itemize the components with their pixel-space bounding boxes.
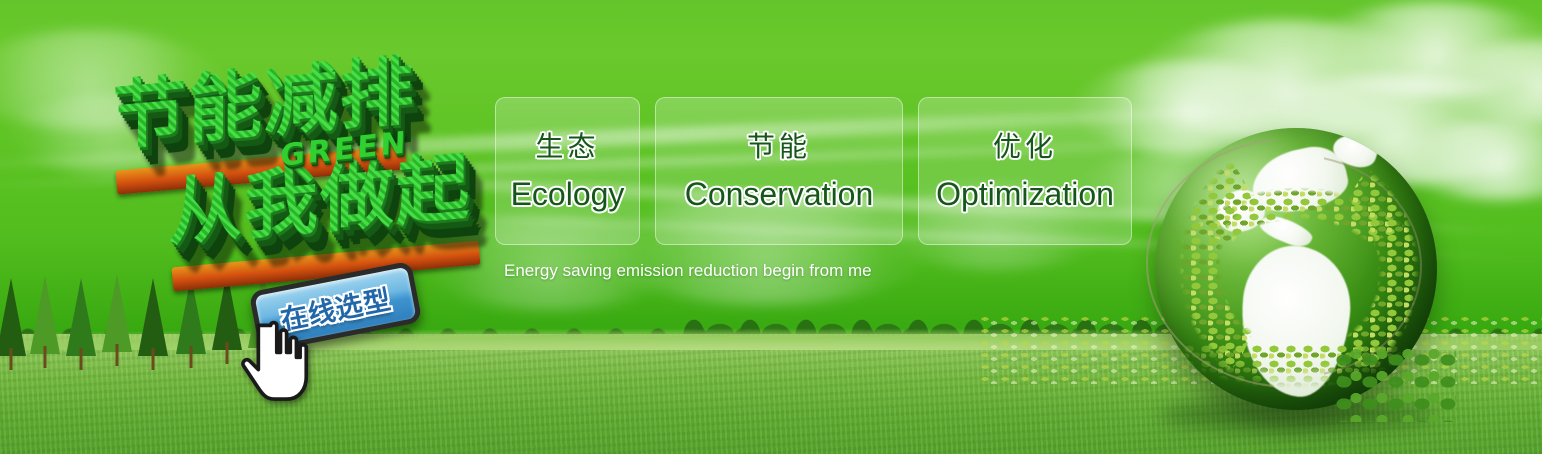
headline-artwork: 节能减排 从我做起 GREEN — [100, 36, 500, 271]
leafy-earth-globe-icon — [1140, 118, 1450, 428]
globe-dark-patch — [1155, 128, 1189, 144]
feature-card-ecology[interactable]: 生态 Ecology — [495, 97, 640, 245]
conifer-tree-icon — [30, 276, 60, 368]
conifer-tree-icon — [138, 262, 168, 370]
feature-card-cn-label: 生态 — [535, 125, 599, 165]
feature-card-optimization[interactable]: 优化 Optimization — [918, 97, 1132, 245]
eco-promo-banner: 节能减排 从我做起 GREEN 在线选型 生态 Ecology 节能 Conse… — [0, 0, 1542, 454]
feature-card-en-label: Ecology — [511, 176, 625, 213]
conifer-tree-icon — [102, 278, 132, 366]
conifer-tree-icon — [0, 270, 26, 370]
feature-card-en-label: Optimization — [936, 176, 1114, 213]
conifer-tree-icon — [66, 266, 96, 370]
bush-icon — [1336, 348, 1456, 422]
feature-card-cn-label: 优化 — [993, 125, 1057, 165]
feature-card-cn-label: 节能 — [747, 125, 811, 165]
tagline-text: Energy saving emission reduction begin f… — [504, 261, 872, 281]
feature-card-en-label: Conservation — [685, 176, 874, 213]
pointer-hand-icon — [238, 318, 318, 404]
feature-card-list: 生态 Ecology 节能 Conservation 优化 Optimizati… — [495, 97, 1132, 245]
feature-card-conservation[interactable]: 节能 Conservation — [655, 97, 903, 245]
